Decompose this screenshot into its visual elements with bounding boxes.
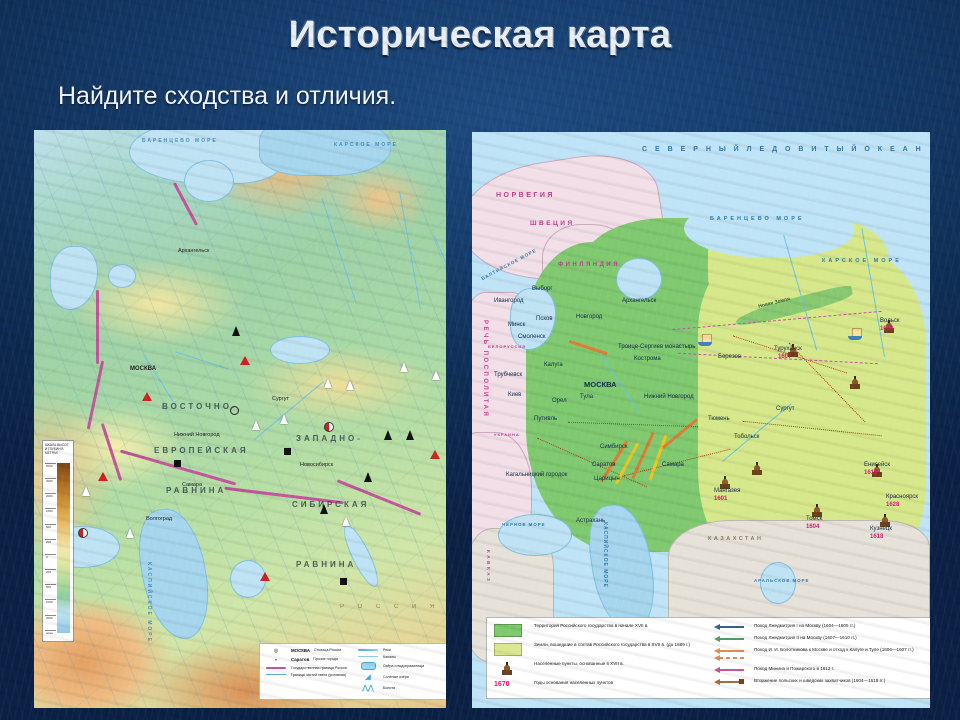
resource-oil-icon (432, 370, 440, 380)
legend-item[interactable]: ⋀⋀ Болота (357, 684, 443, 692)
reservoir-ob (270, 336, 330, 364)
sea-aral-hist (760, 562, 796, 604)
elevation-gradient-bar (57, 463, 70, 633)
town-marker (720, 476, 730, 489)
canal-line-icon (357, 656, 379, 657)
waterfall-mark-icon: ⋀⋀ (357, 684, 379, 692)
orange-arrow-icon (714, 647, 748, 661)
sea-kara (259, 130, 391, 176)
town-marker (812, 504, 822, 517)
legend-item[interactable]: Реки (357, 648, 443, 652)
magenta-arrow-icon (714, 666, 748, 673)
town-marker (872, 464, 882, 477)
resource-mixed-icon (78, 528, 88, 538)
legend-column-settlements: ◎ МОСКВА Столица России ∘ Саратов Прочие… (265, 648, 351, 695)
blue-arrow-icon (714, 623, 748, 630)
natural-border-line-icon (265, 674, 287, 675)
legend-item[interactable]: ◢ Солёные озёра (357, 673, 443, 681)
legend-column-campaigns: Поход Лжедмитрия I на Москву (1604—1605 … (714, 623, 924, 693)
resource-oil-icon (126, 528, 134, 538)
town-marker (788, 344, 798, 357)
sea-barents-hist (684, 198, 854, 258)
legend-item[interactable]: Поход Минина и Пожарского в 1612 г. (714, 666, 924, 673)
resource-oil-icon (280, 414, 288, 424)
town-marker (850, 376, 860, 389)
slide-subtitle: Найдите сходства и отличия. (58, 82, 396, 111)
legend-item[interactable]: Населенные пункты, основанные в XVII в. (494, 661, 704, 675)
legend-item[interactable]: Государственная граница России (265, 666, 351, 670)
ship-icon (698, 334, 712, 346)
legend-item[interactable]: Территория Российского государства в нач… (494, 623, 704, 637)
legend-item[interactable]: 1670 Годы основания населенных пунктов (494, 680, 704, 688)
resource-gas-icon (320, 504, 328, 514)
state-border-segment (96, 290, 99, 364)
historical-map-legend[interactable]: Территория Российского государства в нач… (486, 617, 930, 699)
salt-lake-shape-icon: ◢ (357, 673, 379, 681)
elevation-scale-caption: ШКАЛА ВЫСОТ И ГЛУБИН В МЕТРАХ (45, 443, 71, 455)
year-label-icon: 1670 (494, 680, 528, 688)
legend-item[interactable]: ◎ МОСКВА Столица России (265, 648, 351, 654)
resource-gas-icon (364, 472, 372, 482)
physical-map-panel[interactable]: ВОСТОЧНО- ЕВРОПЕЙСКАЯ РАВНИНА ЗАПАДНО- С… (34, 130, 446, 708)
resource-ore-icon (260, 572, 270, 581)
elevation-scale: ШКАЛА ВЫСОТ И ГЛУБИН В МЕТРАХ 5000 3000 … (42, 440, 74, 642)
sea-black-hist (498, 514, 572, 556)
river-line-icon (357, 649, 379, 651)
resource-ore-icon (142, 392, 152, 401)
legend-item[interactable]: Земли, вошедшие в состав Российского гос… (494, 642, 704, 656)
legend-item[interactable]: Поход И. И. Болотникова к Москве и отход… (714, 647, 924, 661)
green-arrow-icon (714, 635, 748, 642)
physical-map-legend[interactable]: ◎ МОСКВА Столица России ∘ Саратов Прочие… (259, 643, 446, 700)
state-border-line-icon (265, 667, 287, 669)
legend-item[interactable]: Граница частей света (условная) (265, 673, 351, 677)
legend-column-hydrography: Реки Каналы Озёра и водохранилища ◢ (357, 648, 443, 695)
slide-canvas: Историческая карта Найдите сходства и от… (0, 0, 960, 720)
legend-item[interactable]: Поход Лжедмитрия I на Москву (1604—1605 … (714, 623, 924, 630)
page-title: Историческая карта (0, 14, 960, 57)
town-marker (884, 320, 894, 333)
lake-shape-icon (357, 662, 379, 670)
brown-arrow-icon (714, 678, 748, 685)
capital-marker-icon: ◎ (265, 648, 287, 654)
legend-item[interactable]: Озёра и водохранилища (357, 662, 443, 670)
resource-oil-icon (252, 420, 260, 430)
resource-coal-icon (174, 460, 181, 467)
resource-mixed-icon (324, 422, 334, 432)
historical-map-canvas: Новая Земля С Е В Е Р Н Ы Й Л Е Д О В И … (472, 132, 930, 708)
resource-other-icon (230, 406, 239, 415)
ship-icon (848, 328, 862, 340)
resource-gas-icon (232, 326, 240, 336)
resource-oil-icon (346, 380, 354, 390)
resource-oil-icon (82, 486, 90, 496)
yellow-swatch-icon (494, 642, 528, 656)
legend-item[interactable]: Вторжение польских и шведских захватчико… (714, 678, 924, 685)
resource-coal-icon (284, 448, 291, 455)
resource-gas-icon (406, 430, 414, 440)
sea-white (184, 160, 234, 202)
resource-oil-icon (324, 378, 332, 388)
green-swatch-icon (494, 623, 528, 637)
sea-white-hist (616, 258, 662, 300)
relief-background (34, 130, 446, 708)
city-marker-icon: ∘ (265, 657, 287, 663)
elevation-ticks: 5000 3000 2000 1000 500 200 0 200 500 10… (45, 463, 56, 633)
lake-ladoga (108, 264, 136, 288)
resource-oil-icon (342, 516, 350, 526)
town-marker (752, 462, 762, 475)
resource-gas-icon (384, 430, 392, 440)
historical-map-panel[interactable]: Новая Земля С Е В Е Р Н Ы Й Л Е Д О В И … (472, 132, 930, 708)
resource-oil-icon (400, 362, 408, 372)
resource-ore-icon (98, 472, 108, 481)
town-marker-icon (494, 661, 528, 675)
physical-map-canvas: ВОСТОЧНО- ЕВРОПЕЙСКАЯ РАВНИНА ЗАПАДНО- С… (34, 130, 446, 708)
town-marker (880, 514, 890, 527)
resource-coal-icon (340, 578, 347, 585)
legend-item[interactable]: ∘ Саратов Прочие города (265, 657, 351, 663)
legend-item[interactable]: Поход Лжедмитрия II на Москву (1607—1610… (714, 635, 924, 642)
legend-column-territory: Территория Российского государства в нач… (494, 623, 704, 693)
resource-ore-icon (240, 356, 250, 365)
legend-item[interactable]: Каналы (357, 655, 443, 659)
resource-ore-icon (430, 450, 440, 459)
